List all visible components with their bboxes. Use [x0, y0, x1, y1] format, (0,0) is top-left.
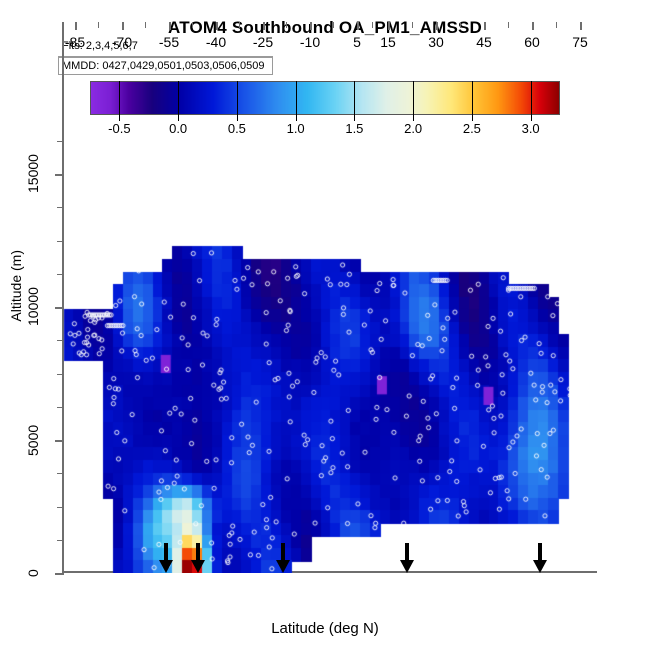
- profile-marker-arrow: [400, 543, 414, 573]
- profile-marker-arrow: [276, 543, 290, 573]
- y-axis-tick-label: 0: [8, 539, 58, 607]
- profile-marker-arrow: [159, 543, 173, 573]
- y-axis-tick-label: 15000: [8, 140, 58, 208]
- y-axis-tick-label: 5000: [8, 406, 58, 474]
- y-axis-label: Altitude (m): [8, 250, 24, 322]
- plot-window: ATOM4 Southbound OA_PM1_AMSSD Flts: 2,3,…: [0, 0, 650, 650]
- profile-marker-arrow: [533, 543, 547, 573]
- heatmap-canvas: [63, 23, 597, 573]
- profile-marker-arrow: [191, 543, 205, 573]
- x-axis-label: Latitude (deg N): [0, 620, 650, 637]
